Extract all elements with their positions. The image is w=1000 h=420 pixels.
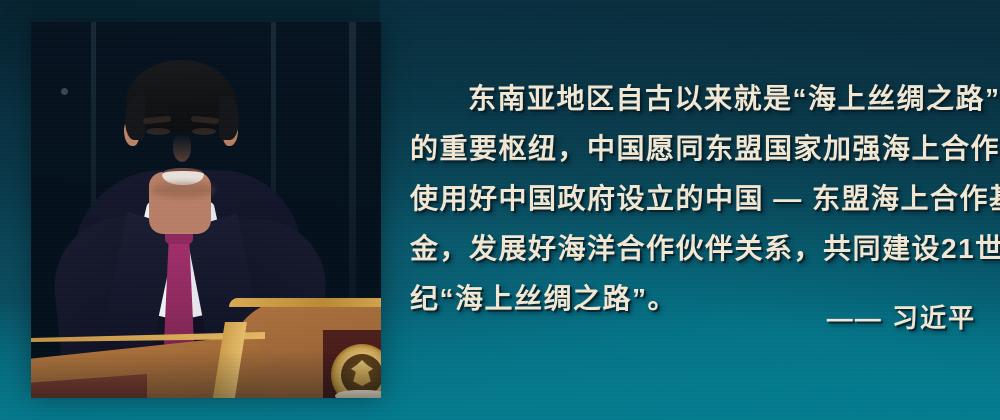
chin-shadow	[151, 182, 215, 198]
backdrop-light-speck	[61, 88, 68, 95]
nose	[173, 134, 191, 162]
speaker-photo	[31, 22, 381, 398]
eye-left	[146, 128, 170, 135]
quote-attribution: —— 习近平	[827, 298, 976, 335]
quote-line: 使用好中国政府设立的中国 — 东盟海上合作基	[410, 174, 980, 224]
quote-text-block: 东南亚地区自古以来就是“海上丝绸之路” 的重要枢纽，中国愿同东盟国家加强海上合作…	[410, 74, 980, 324]
poster-canvas: 东南亚地区自古以来就是“海上丝绸之路” 的重要枢纽，中国愿同东盟国家加强海上合作…	[0, 0, 1000, 420]
eye-right	[192, 128, 216, 135]
hair-side-left	[125, 96, 145, 140]
quote-line: 金，发展好海洋合作伙伴关系，共同建设21世	[410, 224, 980, 274]
photo-bottom-fade	[31, 350, 381, 398]
quote-line: 东南亚地区自古以来就是“海上丝绸之路”	[410, 74, 980, 124]
quote-line: 的重要枢纽，中国愿同东盟国家加强海上合作，	[410, 124, 980, 174]
hair-side-right	[219, 96, 239, 140]
podium-right-gold-trim	[229, 298, 381, 307]
backdrop-seam	[349, 22, 356, 322]
